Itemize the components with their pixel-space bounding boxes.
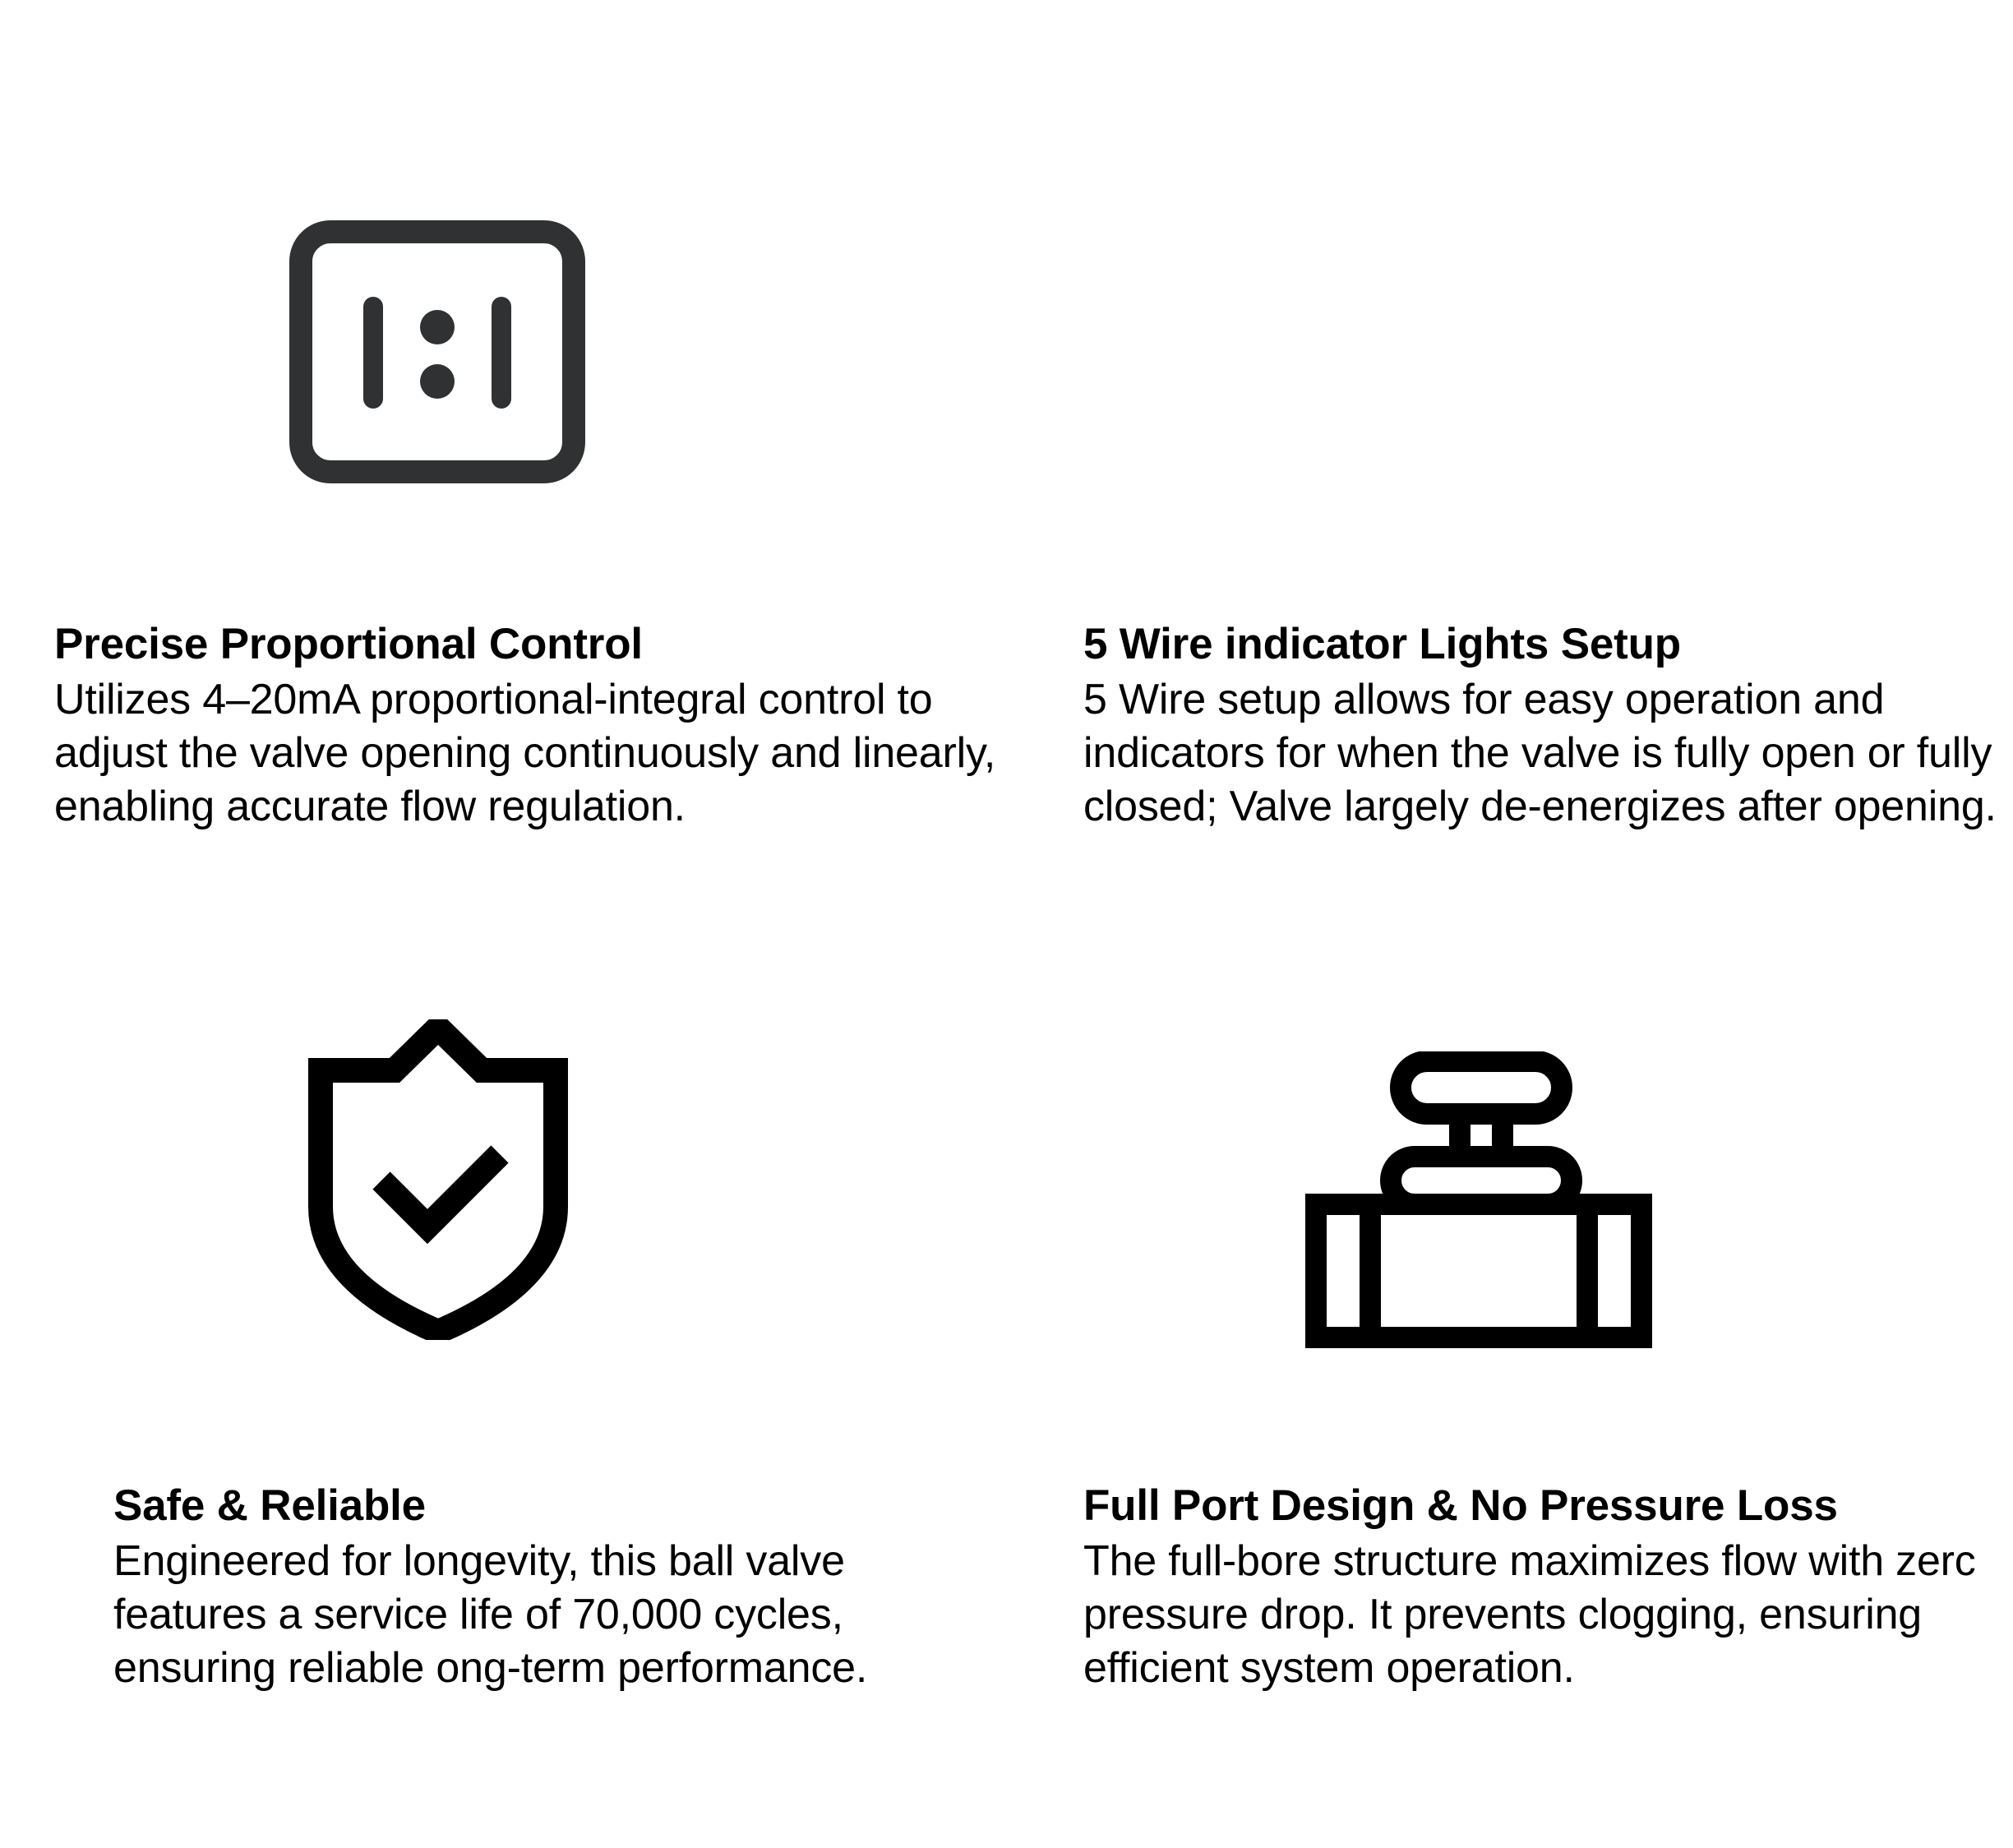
feature-title: Full Port Design & No Pressure Loss bbox=[1083, 1480, 2004, 1532]
feature-description: The full-bore structure maximizes flow w… bbox=[1083, 1535, 2004, 1695]
feature-card-safe-and-reliable: Safe & Reliable Engineered for longevity… bbox=[0, 924, 1006, 1848]
feature-title: Precise Proportional Control bbox=[54, 618, 1004, 671]
feature-card-full-port-design: Full Port Design & No Pressure Loss The … bbox=[1006, 924, 2013, 1848]
feature-card-5-wire-indicator-lights-setup: 5 Wire indicator Lights Setup 5 Wire set… bbox=[1006, 0, 2013, 924]
shield-check-icon bbox=[302, 1019, 574, 1340]
feature-card-precise-proportional-control: Precise Proportional Control Utilizes 4–… bbox=[0, 0, 1006, 924]
feature-grid: Precise Proportional Control Utilizes 4–… bbox=[0, 0, 2013, 1848]
feature-title: 5 Wire indicator Lights Setup bbox=[1083, 618, 2004, 671]
feature-description: Engineered for longevity, this ball valv… bbox=[113, 1535, 993, 1695]
feature-text-block: Full Port Design & No Pressure Loss The … bbox=[1083, 1480, 2004, 1695]
feature-title: Safe & Reliable bbox=[113, 1480, 993, 1532]
ratio-one-to-one-icon bbox=[289, 220, 585, 483]
ball-valve-icon bbox=[1302, 1051, 1655, 1351]
feature-text-block: Safe & Reliable Engineered for longevity… bbox=[113, 1480, 993, 1695]
feature-description: Utilizes 4–20mA proportional-integral co… bbox=[54, 673, 1004, 834]
feature-description: 5 Wire setup allows for easy operation a… bbox=[1083, 673, 2004, 834]
feature-text-block: 5 Wire indicator Lights Setup 5 Wire set… bbox=[1083, 618, 2004, 834]
feature-text-block: Precise Proportional Control Utilizes 4–… bbox=[54, 618, 1004, 834]
